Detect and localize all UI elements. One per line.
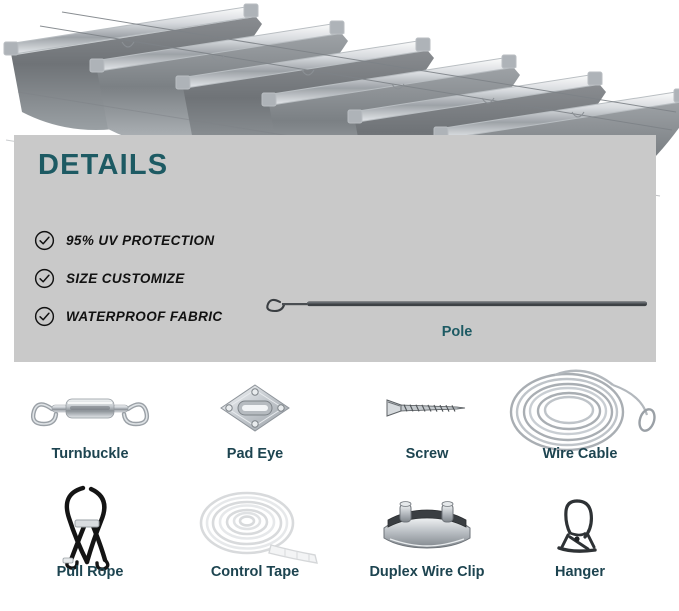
feature-item: SIZE CUSTOMIZE (34, 263, 223, 294)
feature-item: WATERPROOF FABRIC (34, 301, 223, 332)
accessory-item-wire-cable: Wire Cable (495, 372, 665, 462)
accessory-grid: Turnbuckle Pad Eye (0, 372, 679, 611)
pole-label: Pole (262, 324, 652, 340)
accessory-item-control-tape: Control Tape (170, 490, 340, 580)
accessory-item-screw: Screw (342, 372, 512, 462)
pull-rope-icon (5, 490, 175, 562)
feature-item: 95% UV PROTECTION (34, 225, 223, 256)
accessory-item-pad-eye: Pad Eye (170, 372, 340, 462)
pole-rod-icon (262, 290, 652, 324)
feature-label: 95% UV PROTECTION (66, 233, 215, 248)
accessory-label: Screw (342, 446, 512, 462)
pad-eye-icon (170, 372, 340, 444)
turnbuckle-icon (5, 372, 175, 444)
screw-icon (342, 372, 512, 444)
feature-list: 95% UV PROTECTION SIZE CUSTOMIZE WATERPR… (34, 225, 223, 339)
feature-label: SIZE CUSTOMIZE (66, 271, 185, 286)
accessory-item-duplex-wire-clip: Duplex Wire Clip (342, 490, 512, 580)
pole-item: Pole (262, 290, 652, 350)
check-circle-icon (34, 306, 55, 327)
accessory-label: Hanger (495, 564, 665, 580)
wire-cable-icon (495, 372, 665, 444)
accessory-label: Turnbuckle (5, 446, 175, 462)
page-title: DETAILS (38, 149, 168, 182)
check-circle-icon (34, 268, 55, 289)
accessory-item-hanger: Hanger (495, 490, 665, 580)
accessory-item-pull-rope: Pull Rope (5, 490, 175, 580)
accessory-label: Pad Eye (170, 446, 340, 462)
accessory-label: Pull Rope (5, 564, 175, 580)
duplex-wire-clip-icon (342, 490, 512, 562)
control-tape-icon (170, 490, 340, 562)
accessory-item-turnbuckle: Turnbuckle (5, 372, 175, 462)
hanger-icon (495, 490, 665, 562)
feature-label: WATERPROOF FABRIC (66, 309, 223, 324)
accessory-label: Duplex Wire Clip (342, 564, 512, 580)
check-circle-icon (34, 230, 55, 251)
